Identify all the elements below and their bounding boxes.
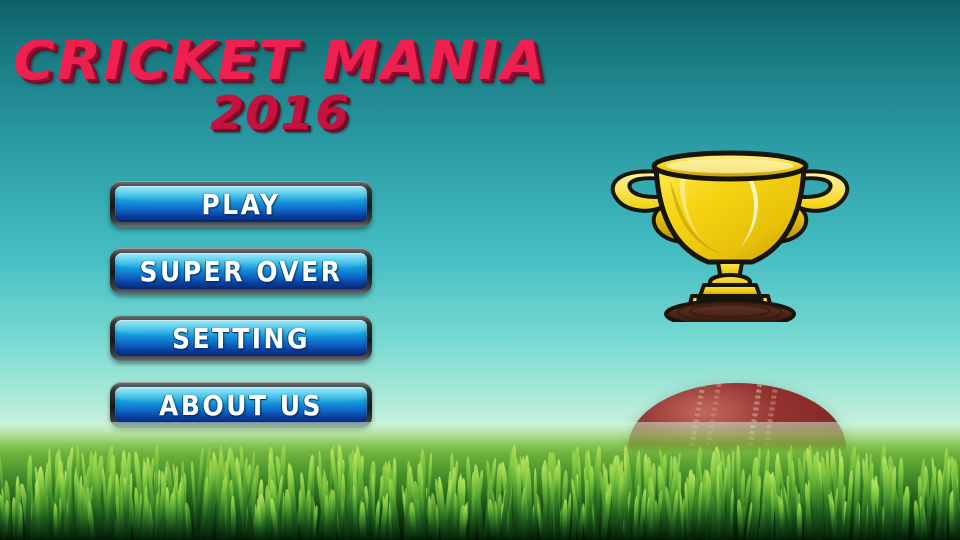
super-over-button-label: SUPER OVER	[140, 255, 343, 287]
super-over-button-face[interactable]: SUPER OVER	[115, 253, 367, 289]
play-button-label: PLAY	[201, 188, 280, 220]
trophy-icon	[600, 122, 860, 322]
setting-button[interactable]: SETTING	[110, 315, 372, 361]
play-button-face[interactable]: PLAY	[115, 186, 367, 222]
grass-blade	[948, 493, 952, 540]
game-menu-screen: CRICKET MANIA 2016	[0, 0, 960, 540]
main-menu: PLAY SUPER OVER SETTING ABOUT US	[110, 181, 372, 449]
game-title: CRICKET MANIA 2016	[0, 34, 560, 140]
about-us-button-face[interactable]: ABOUT US	[115, 387, 367, 423]
grass-field	[0, 422, 960, 540]
title-line-main: CRICKET MANIA	[0, 34, 577, 88]
setting-button-face[interactable]: SETTING	[115, 320, 367, 356]
grass-haze	[0, 422, 960, 444]
grass-blade	[765, 471, 771, 540]
setting-button-label: SETTING	[172, 322, 310, 354]
super-over-button[interactable]: SUPER OVER	[110, 248, 372, 294]
play-button[interactable]: PLAY	[110, 181, 372, 227]
title-line-year: 2016	[0, 86, 577, 140]
about-us-button-label: ABOUT US	[159, 389, 323, 421]
